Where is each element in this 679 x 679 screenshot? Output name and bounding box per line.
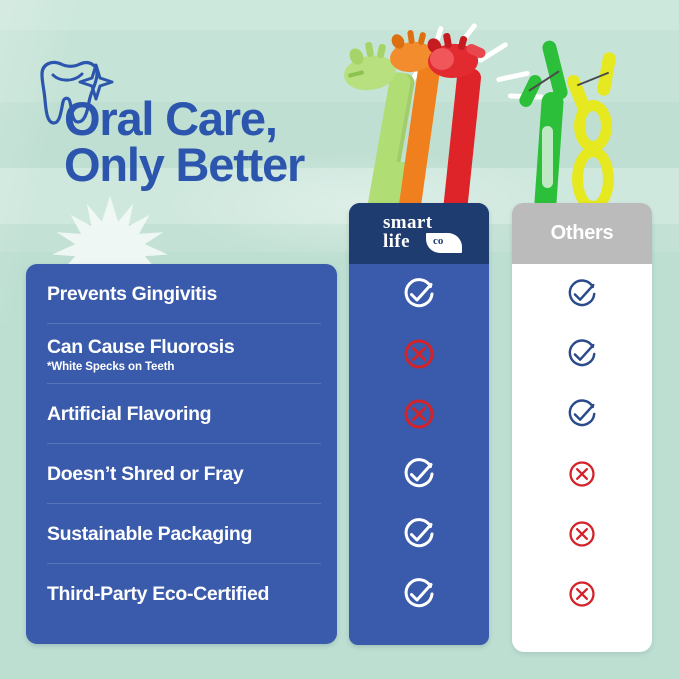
mark-cell bbox=[349, 564, 489, 624]
x-circle-icon bbox=[567, 519, 597, 549]
feature-sublabel: *White Specks on Teeth bbox=[47, 361, 337, 373]
page-title: Oral Care, Only Better bbox=[64, 96, 304, 188]
giraffe-flosser-red bbox=[414, 34, 502, 220]
mark-cell bbox=[512, 384, 652, 444]
floss-pick-yellow bbox=[552, 42, 638, 218]
x-circle-icon bbox=[402, 337, 436, 371]
table-row: Doesn’t Shred or Fray bbox=[26, 444, 337, 504]
table-row: Sustainable Packaging bbox=[26, 504, 337, 564]
check-circle-icon bbox=[402, 277, 436, 311]
check-circle-icon bbox=[566, 278, 598, 310]
smartlife-marks bbox=[349, 264, 489, 624]
column-smartlife: smart life co bbox=[349, 203, 489, 645]
feature-label: Can Cause Fluorosis bbox=[47, 336, 337, 359]
feature-label: Third-Party Eco-Certified bbox=[47, 583, 337, 606]
table-row: Can Cause Fluorosis *White Specks on Tee… bbox=[26, 324, 337, 384]
check-circle-icon bbox=[566, 338, 598, 370]
mark-cell bbox=[349, 504, 489, 564]
logo-word-life: life bbox=[383, 231, 410, 253]
check-circle-icon bbox=[402, 517, 436, 551]
smartlife-logo: smart life co bbox=[371, 211, 467, 257]
mark-cell bbox=[512, 564, 652, 624]
mark-cell bbox=[349, 264, 489, 324]
table-row: Prevents Gingivitis bbox=[26, 264, 337, 324]
infographic-canvas: Oral Care, Only Better Prevents Gingivit… bbox=[0, 0, 679, 679]
check-circle-icon bbox=[402, 577, 436, 611]
feature-label: Doesn’t Shred or Fray bbox=[47, 463, 337, 486]
mark-cell bbox=[512, 504, 652, 564]
logo-leaf-text: co bbox=[433, 235, 443, 247]
mark-cell bbox=[512, 264, 652, 324]
mark-cell bbox=[349, 444, 489, 504]
x-circle-icon bbox=[567, 459, 597, 489]
others-title: Others bbox=[551, 222, 614, 245]
column-others: Others bbox=[512, 203, 652, 652]
leaf-icon bbox=[426, 233, 462, 253]
feature-label: Sustainable Packaging bbox=[47, 523, 337, 546]
mark-cell bbox=[349, 384, 489, 444]
product-image-group bbox=[320, 0, 679, 215]
headline-line-2: Only Better bbox=[64, 142, 304, 188]
mark-cell bbox=[349, 324, 489, 384]
feature-label: Artificial Flavoring bbox=[47, 403, 337, 426]
column-header-smartlife: smart life co bbox=[349, 203, 489, 264]
headline-line-1: Oral Care, bbox=[64, 92, 277, 145]
mark-cell bbox=[512, 444, 652, 504]
table-row: Third-Party Eco-Certified bbox=[26, 564, 337, 624]
x-circle-icon bbox=[402, 397, 436, 431]
column-header-others: Others bbox=[512, 203, 652, 264]
check-circle-icon bbox=[402, 457, 436, 491]
table-row: Artificial Flavoring bbox=[26, 384, 337, 444]
mark-cell bbox=[512, 324, 652, 384]
feature-list-card: Prevents Gingivitis Can Cause Fluorosis … bbox=[26, 264, 337, 644]
x-circle-icon bbox=[567, 579, 597, 609]
others-marks bbox=[512, 264, 652, 624]
check-circle-icon bbox=[566, 398, 598, 430]
feature-label: Prevents Gingivitis bbox=[47, 283, 337, 306]
